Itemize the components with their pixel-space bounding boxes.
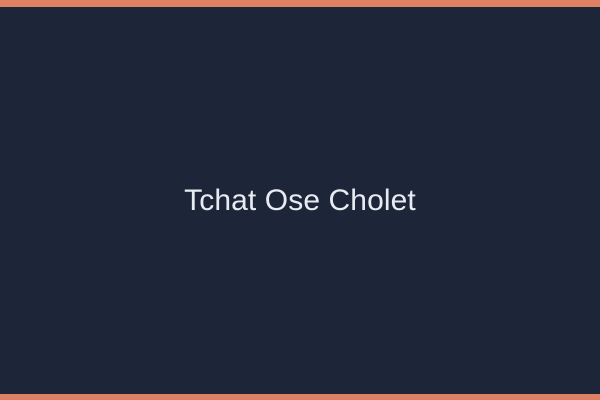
top-accent-bar <box>0 0 600 7</box>
bottom-accent-bar <box>0 394 600 400</box>
preview-card: Tchat Ose Cholet <box>0 0 600 400</box>
page-title: Tchat Ose Cholet <box>184 182 416 220</box>
card-body: Tchat Ose Cholet <box>0 7 600 394</box>
